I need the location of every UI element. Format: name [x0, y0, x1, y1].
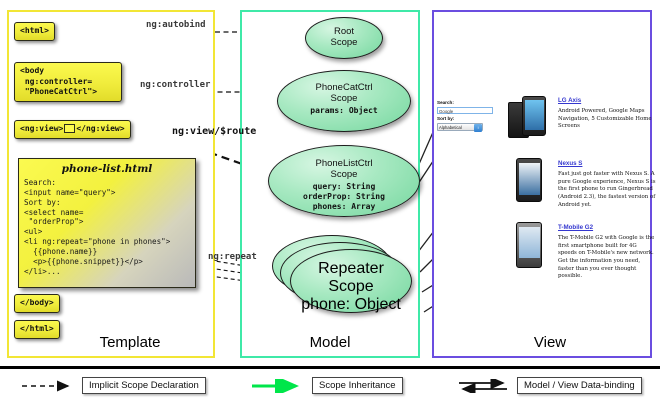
- ngview-tag-box: <ng:view></ng:view>: [14, 120, 131, 139]
- scope-phonelistctrl: PhoneListCtrl Scope query: String orderP…: [268, 145, 420, 217]
- phone-screen-icon: [519, 163, 540, 195]
- phone-body-icon: [522, 96, 546, 136]
- sort-label: Sort by:: [437, 116, 497, 123]
- phone-image-t-mobile-g2: [516, 222, 544, 270]
- phone-body-icon: [516, 222, 542, 268]
- legend: Implicit Scope Declaration Scope Inherit…: [0, 366, 660, 408]
- scope-phonecatctrl-props: params: Object: [278, 106, 410, 116]
- code-card: phone-list.html Search: <input name="que…: [18, 158, 196, 288]
- phone-image-lg-axis: [508, 96, 548, 142]
- chevron-updown-icon: ↕: [474, 124, 482, 132]
- search-label: Search:: [437, 100, 497, 107]
- legend-item-implicit-scope: Implicit Scope Declaration: [20, 377, 206, 394]
- html-close-tag-box: </html>: [14, 320, 60, 339]
- phone-description-1: Fast just got faster with Nexus S. A pur…: [558, 171, 656, 209]
- connector-label-controller: ng:controller: [140, 80, 210, 90]
- phone-description-2: The T-Mobile G2 with Google is the first…: [558, 235, 656, 281]
- connector-label-ngview-route: ng:view/$route: [172, 126, 256, 137]
- legend-label-implicit-scope: Implicit Scope Declaration: [82, 377, 206, 394]
- legend-label-scope-inheritance: Scope Inheritance: [312, 377, 403, 394]
- ngview-open-label: <ng:view>: [20, 124, 63, 133]
- scope-repeater: Repeater Scope phone: Object: [290, 249, 412, 313]
- phone-name-link-2[interactable]: T-Mobile G2: [558, 224, 593, 231]
- phone-image-nexus-s: [516, 158, 544, 204]
- phone-name-link-1[interactable]: Nexus S: [558, 160, 582, 167]
- phone-description-0: Android Powered, Google Maps Navigation,…: [558, 108, 656, 131]
- sort-select-value: Alphabetical: [439, 125, 462, 130]
- scope-phonecatctrl-title: PhoneCatCtrl Scope: [278, 82, 410, 104]
- panel-label-view: View: [505, 334, 595, 351]
- phone-screen-icon: [525, 100, 544, 130]
- ngview-placeholder-icon: [64, 124, 75, 133]
- scope-phonelistctrl-title: PhoneListCtrl Scope: [269, 158, 419, 180]
- connector-label-autobind: ng:autobind: [146, 20, 206, 30]
- scope-phonecatctrl: PhoneCatCtrl Scope params: Object: [277, 70, 411, 132]
- connector-label-repeat: ng:repeat: [208, 252, 257, 262]
- search-input[interactable]: Google: [437, 107, 493, 114]
- scope-repeater-props: phone: Object: [291, 296, 411, 314]
- legend-label-data-binding: Model / View Data-binding: [517, 377, 642, 394]
- scope-repeater-title: Repeater Scope: [291, 260, 411, 296]
- panel-label-template: Template: [85, 334, 175, 351]
- legend-item-data-binding: Model / View Data-binding: [455, 377, 642, 394]
- scope-repeater-stack: Repeater Scope phone: Object: [272, 235, 420, 325]
- html-tag-box: <html>: [14, 22, 55, 41]
- code-card-title: phone-list.html: [19, 159, 195, 178]
- legend-arrow-double-icon: [455, 379, 511, 393]
- phone-screen-icon: [519, 227, 540, 258]
- legend-arrow-dashed-icon: [20, 379, 76, 393]
- code-card-body: Search: <input name="query"> Sort by: <s…: [19, 178, 195, 277]
- view-search-form: Search: Google Sort by: Alphabetical ↕: [437, 100, 497, 131]
- sort-select[interactable]: Alphabetical ↕: [437, 123, 483, 131]
- diagram-canvas: Template Model View <html> <body ng:cont…: [0, 0, 660, 405]
- scope-root: Root Scope: [305, 17, 383, 59]
- phone-body-icon: [516, 158, 542, 202]
- phone-name-link-0[interactable]: LG Axis: [558, 97, 581, 104]
- legend-item-scope-inheritance: Scope Inheritance: [250, 377, 403, 394]
- legend-arrow-green-icon: [250, 379, 306, 393]
- ngview-close-label: </ng:view>: [76, 124, 124, 133]
- scope-root-title: Root Scope: [306, 26, 382, 48]
- panel-label-model: Model: [285, 334, 375, 351]
- scope-phonelistctrl-props: query: String orderProp: String phones: …: [269, 182, 419, 212]
- body-tag-box: <body ng:controller= "PhoneCatCtrl">: [14, 62, 122, 102]
- body-close-tag-box: </body>: [14, 294, 60, 313]
